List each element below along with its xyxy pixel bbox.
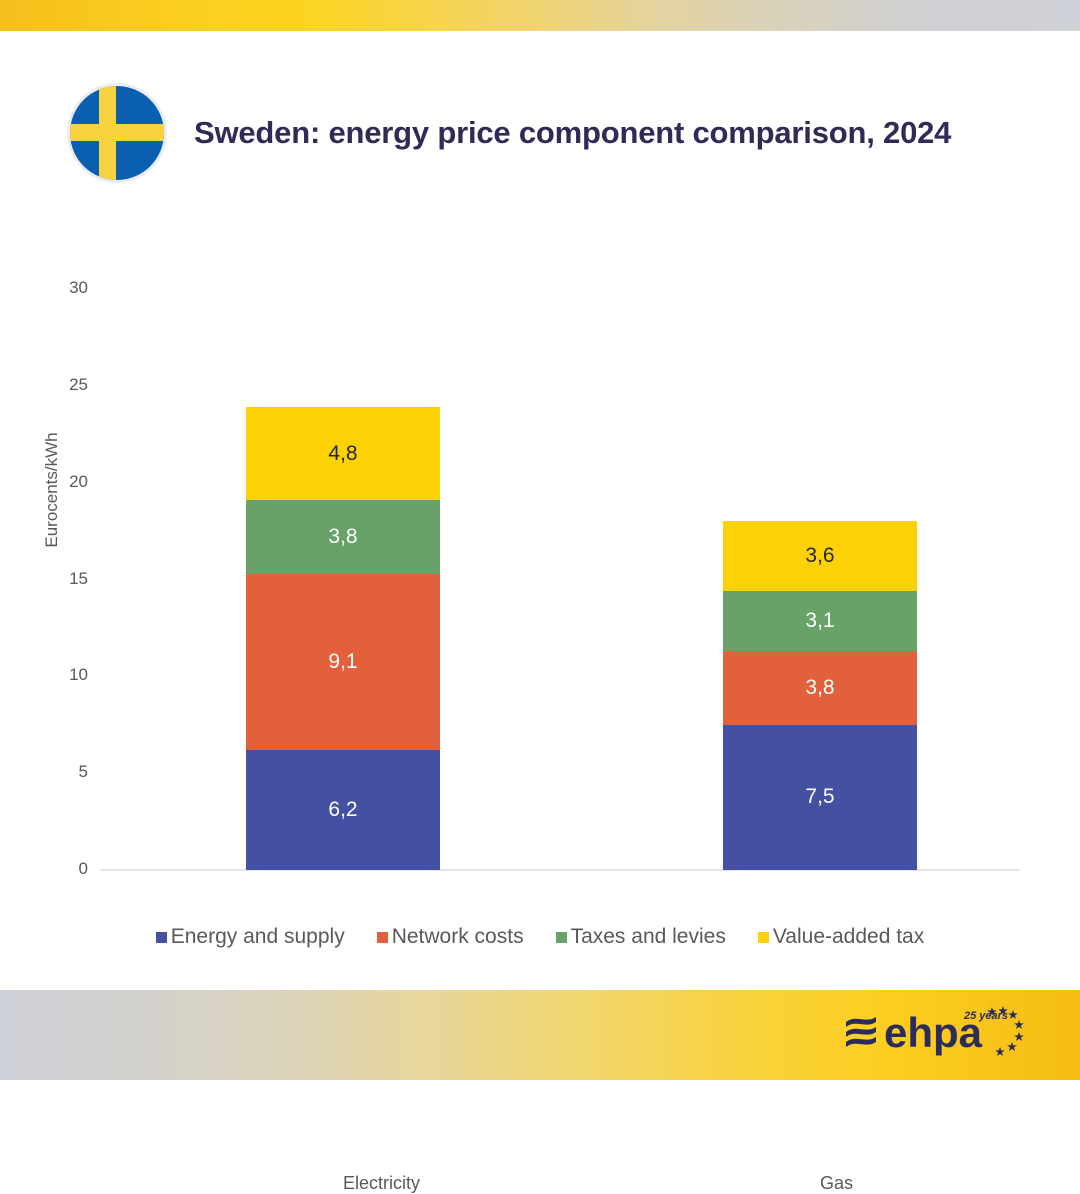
legend-label: Network costs: [392, 925, 524, 949]
legend-item[interactable]: Value-added tax: [758, 925, 924, 949]
bar-value-label: 4,8: [328, 442, 357, 466]
ehpa-logo: ehpa 25 years: [842, 1002, 1042, 1062]
y-axis-ticks: 051015202530: [40, 0, 88, 1080]
bar-value-label: 3,8: [805, 676, 834, 700]
y-axis-tick-label: 0: [42, 860, 88, 877]
bar-value-label: 3,8: [328, 525, 357, 549]
wave-icon: [846, 1037, 876, 1047]
y-axis-tick-label: 25: [42, 376, 88, 393]
bar-value-label: 3,6: [805, 544, 834, 568]
bar-segment[interactable]: 3,8: [723, 651, 917, 725]
y-axis-tick-label: 30: [42, 279, 88, 296]
bar-gas[interactable]: 3,63,13,87,5: [723, 521, 917, 870]
bar-value-label: 7,5: [805, 785, 834, 809]
wave-icon: [846, 1017, 876, 1027]
wave-icon: [846, 1027, 876, 1037]
bar-segment[interactable]: 9,1: [246, 574, 440, 750]
y-axis-tick-label: 10: [42, 666, 88, 683]
legend-swatch-icon: [556, 932, 567, 943]
bar-segment[interactable]: 7,5: [723, 725, 917, 870]
bar-segment[interactable]: 3,6: [723, 521, 917, 591]
legend-item[interactable]: Network costs: [377, 925, 524, 949]
legend-swatch-icon: [758, 932, 769, 943]
chart: Eurocents/kWh 051015202530 4,83,89,16,2E…: [0, 0, 1080, 1080]
poster-page: Sweden: energy price component compariso…: [0, 0, 1080, 1080]
legend-label: Taxes and levies: [571, 925, 726, 949]
legend-item[interactable]: Taxes and levies: [556, 925, 726, 949]
bar-segment[interactable]: 3,8: [246, 500, 440, 574]
legend-item[interactable]: Energy and supply: [156, 925, 345, 949]
bar-value-label: 6,2: [328, 798, 357, 822]
bar-segment[interactable]: 4,8: [246, 407, 440, 500]
stars-arc-icon: [987, 1006, 1024, 1056]
bar-value-label: 3,1: [805, 609, 834, 633]
bar-value-label: 9,1: [328, 650, 357, 674]
plot-area: 4,83,89,16,2Electricity3,63,13,87,5Gas: [100, 288, 1020, 870]
legend-swatch-icon: [377, 932, 388, 943]
bar-electricity[interactable]: 4,83,89,16,2: [246, 407, 440, 870]
bar-segment[interactable]: 6,2: [246, 750, 440, 870]
legend-label: Value-added tax: [773, 925, 924, 949]
bar-segment[interactable]: 3,1: [723, 591, 917, 651]
y-axis-tick-label: 5: [42, 763, 88, 780]
chart-legend: Energy and supplyNetwork costsTaxes and …: [0, 925, 1080, 949]
legend-label: Energy and supply: [171, 925, 345, 949]
y-axis-tick-label: 15: [42, 570, 88, 587]
ehpa-logo-svg: ehpa 25 years: [842, 1002, 1042, 1062]
y-axis-tick-label: 20: [42, 473, 88, 490]
legend-swatch-icon: [156, 932, 167, 943]
